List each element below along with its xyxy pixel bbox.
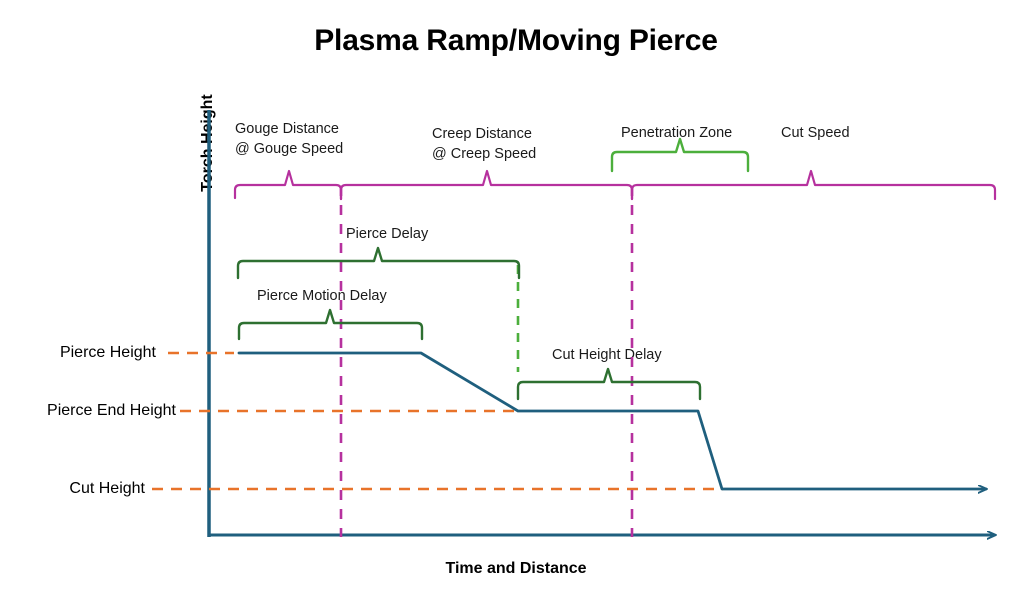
height-reference-lines [152, 353, 723, 489]
torch-height-profile [239, 353, 986, 489]
torch-height-curve [239, 353, 986, 489]
speed-bracket-cut [632, 171, 995, 199]
diagram-canvas [0, 0, 1032, 596]
plasma-ramp-diagram: Plasma Ramp/Moving Pierce Torch Height T… [0, 0, 1032, 596]
speed-bracket-row [235, 171, 995, 199]
penetration-zone-bracket [612, 139, 748, 171]
event-lines-group [341, 186, 632, 537]
cut-height-delay-bracket [518, 369, 700, 399]
pierce-delay-bracket [238, 248, 519, 278]
pierce-motion-delay-bracket [239, 310, 422, 339]
speed-bracket-gouge [235, 171, 341, 199]
speed-bracket-creep [341, 171, 632, 199]
